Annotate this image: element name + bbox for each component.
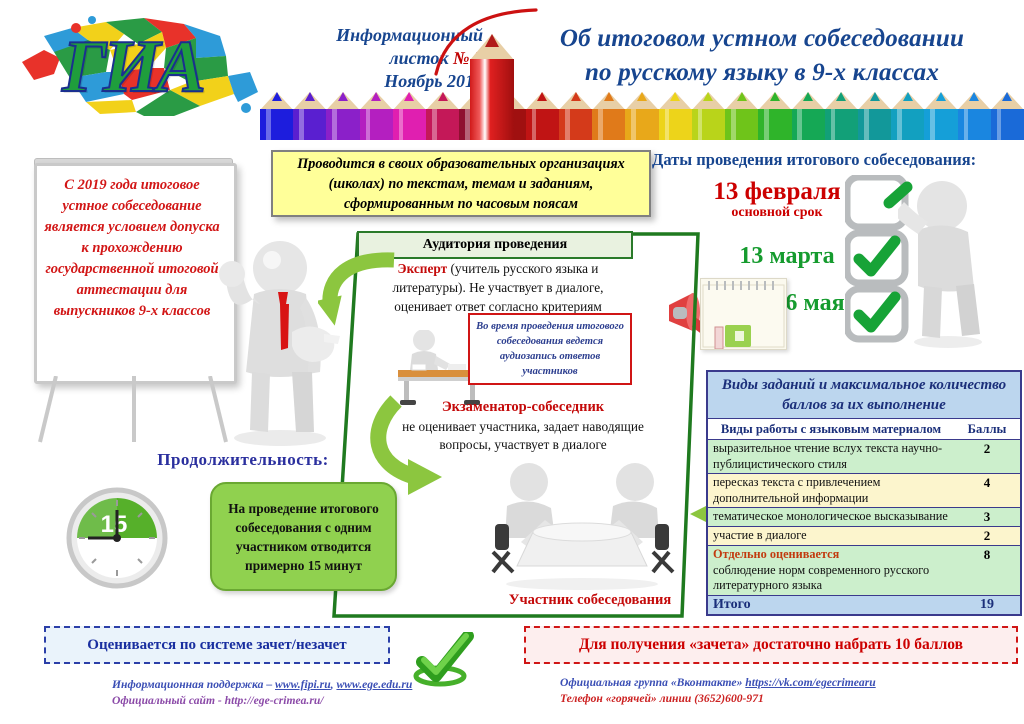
interview-table-icon [487,460,677,590]
participant-label: Участник собеседования [480,592,700,609]
score-table-row: пересказ текста с привлечением дополните… [708,473,1020,507]
score-table-col-2-header: Баллы [954,419,1020,439]
score-table-col-1-header: Виды работы с языковым материалом [708,419,954,439]
footer-support-line: Информационная поддержка – www.fipi.ru, … [112,678,412,691]
row-points: 8 [954,546,1020,595]
row-label: Отдельно оцениваетсясоблюдение норм совр… [708,546,954,595]
page-title: Об итоговом устном собеседовании по русс… [508,22,1016,90]
footer-vk-line: Официальная группа «Вконтакте» https://v… [560,676,876,689]
audio-record-text: Во время проведения итогового собеседова… [470,315,630,383]
green-check-icon [410,632,476,688]
pencil-9-icon [559,92,592,140]
passing-score-banner: Для получения «зачета» достаточно набрат… [524,626,1018,664]
row-label: выразительное чтение вслух текста научно… [708,440,954,473]
score-table-header: Виды работы с языковым материалом Баллы [708,418,1020,439]
score-table-row: выразительное чтение вслух текста научно… [708,439,1020,473]
duration-text: На проведение итогового собеседования с … [212,499,395,575]
pointing-hand-icon [290,318,340,370]
total-label: Итого [708,596,954,614]
score-table-title: Виды заданий и максимальное количество б… [708,372,1020,418]
row-points: 3 [954,508,1020,526]
row-label: тематическое монологическое высказывание [708,508,954,526]
score-table-body: выразительное чтение вслух текста научно… [708,439,1020,595]
flipchart-text: С 2019 года итоговое устное собеседовани… [42,175,222,322]
passing-score-text: Для получения «зачета» достаточно набрат… [579,636,963,654]
score-table-total-row: Итого 19 [708,595,1020,614]
row-label: участие в диалоге [708,527,954,545]
footer-vk-label: Официальная группа «Вконтакте» [560,676,745,689]
logo-text: ГИА [22,22,242,112]
row-points: 2 [954,440,1020,473]
pencil-22-icon [991,92,1024,140]
title-line-2: по русскому языку в 9-х классах [508,56,1016,90]
pencil-16-icon [792,92,825,140]
pencil-18-icon [858,92,891,140]
big-red-pencil-icon [470,34,514,140]
yellow-note-box: Проводится в своих образовательных орган… [271,150,651,217]
pencil-11-icon [625,92,658,140]
pencil-13-icon [692,92,725,140]
pencil-2-icon [326,92,359,140]
footer-link-fipi[interactable]: www.fipi.ru [275,678,331,691]
infographic-poster: ГИА Информационный листок № 3 Ноябрь 201… [0,0,1024,724]
pencil-0-icon [260,92,293,140]
person-3d-checking-icon [898,176,990,348]
duration-box: На проведение итогового собеседования с … [210,482,397,591]
pencil-12-icon [659,92,692,140]
yellow-note-text: Проводится в своих образовательных орган… [273,154,649,214]
dates-title: Даты проведения итогового собеседования: [652,150,1024,170]
score-table-row: участие в диалоге2 [708,526,1020,545]
row-note: Отдельно оценивается [713,547,949,563]
footer-link-vk[interactable]: https://vk.com/egecrimearu [745,676,875,689]
audio-record-note: Во время проведения итогового собеседова… [468,313,632,385]
pencil-1-icon [293,92,326,140]
clock-icon: 15 [62,480,172,590]
footer-support-label: Информационная поддержка – [112,678,275,691]
pencil-4-icon [393,92,426,140]
pencil-row-decoration [260,92,1024,140]
score-table-row: тематическое монологическое высказывание… [708,507,1020,526]
pencil-20-icon [924,92,957,140]
pencil-17-icon [825,92,858,140]
footer-link-ege[interactable]: www.ege.edu.ru [336,678,412,691]
total-points: 19 [954,596,1020,614]
pencil-3-icon [360,92,393,140]
pencil-19-icon [891,92,924,140]
footer-official-site[interactable]: Официальный сайт - http://ege-crimea.ru/ [112,694,324,707]
grading-system-banner: Оценивается по системе зачет/незачет [44,626,390,664]
score-table-row: Отдельно оцениваетсясоблюдение норм совр… [708,545,1020,595]
row-points: 4 [954,474,1020,507]
notepad-icon [700,278,787,350]
row-label: пересказ текста с привлечением дополните… [708,474,954,507]
duration-title: Продолжительность: [128,450,358,470]
score-table: Виды заданий и максимальное количество б… [706,370,1022,616]
title-line-1: Об итоговом устном собеседовании [508,22,1016,56]
pencil-5-icon [426,92,459,140]
pencil-15-icon [758,92,791,140]
footer-hotline: Телефон «горячей» линии (3652)600-971 [560,692,764,705]
pencil-10-icon [592,92,625,140]
pencil-8-icon [526,92,559,140]
grading-system-text: Оценивается по системе зачет/незачет [87,637,346,654]
clock-value: 15 [101,511,128,538]
row-points: 2 [954,527,1020,545]
pencil-21-icon [958,92,991,140]
pencil-14-icon [725,92,758,140]
